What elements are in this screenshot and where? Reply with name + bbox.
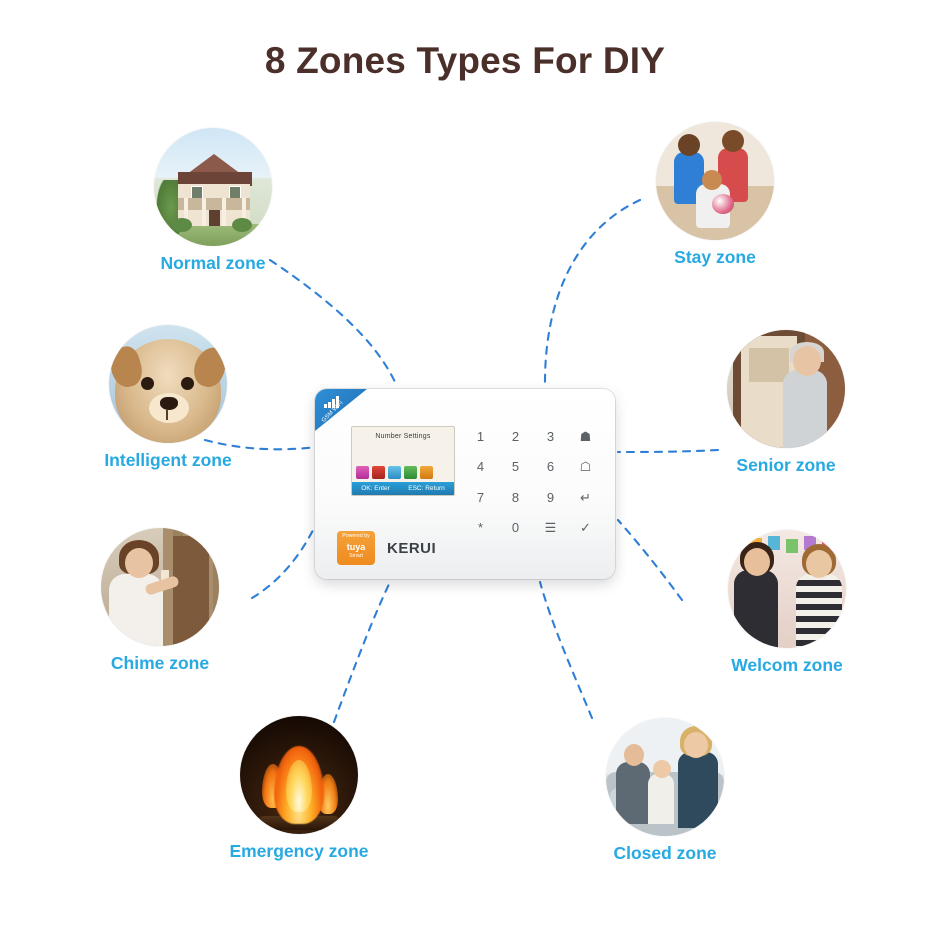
connector-closed bbox=[540, 582, 592, 718]
zone-stay[interactable]: Stay zone bbox=[650, 122, 780, 268]
connector-emergency bbox=[334, 582, 390, 722]
zone-chime-image bbox=[101, 528, 219, 646]
key-star[interactable]: * bbox=[463, 521, 498, 534]
house-photo bbox=[154, 128, 272, 246]
wifi-icon bbox=[388, 466, 401, 479]
zone-senior-image bbox=[727, 330, 845, 448]
confirm-icon[interactable]: ✓ bbox=[568, 521, 603, 534]
zone-normal-image bbox=[154, 128, 272, 246]
menu-icon[interactable]: ☰ bbox=[533, 521, 568, 534]
key-2[interactable]: 2 bbox=[498, 430, 533, 443]
panel-base bbox=[321, 571, 609, 585]
key-4[interactable]: 4 bbox=[463, 460, 498, 473]
key-8[interactable]: 8 bbox=[498, 491, 533, 504]
diagram-canvas: 8 Zones Types For DIY bbox=[0, 0, 930, 930]
zone-welcom[interactable]: Welcom zone bbox=[712, 530, 862, 676]
softkey-ok: OK: Enter bbox=[361, 485, 390, 492]
zone-stay-image bbox=[656, 122, 774, 240]
zone-emergency-label: Emergency zone bbox=[219, 841, 379, 862]
zone-stay-label: Stay zone bbox=[650, 247, 780, 268]
zone-senior[interactable]: Senior zone bbox=[716, 330, 856, 476]
zone-intelligent[interactable]: Intelligent zone bbox=[88, 325, 248, 471]
children-playing-photo bbox=[656, 122, 774, 240]
screen-softkeys: OK: Enter ESC: Return bbox=[352, 482, 454, 495]
screen-status-icons bbox=[356, 466, 433, 479]
alarm-panel[interactable]: GSM WiFi Number Settings OK: Enter ESC: … bbox=[315, 389, 615, 579]
panel-keypad[interactable]: 1 2 3 ☗ 4 5 6 ☖ 7 8 9 ↵ * 0 ☰ ✓ bbox=[463, 421, 603, 543]
zone-welcom-image bbox=[728, 530, 846, 648]
zone-emergency[interactable]: Emergency zone bbox=[219, 716, 379, 862]
tuya-brand-label: tuya bbox=[337, 541, 375, 553]
zone-closed-label: Closed zone bbox=[595, 843, 735, 864]
softkey-esc: ESC: Return bbox=[408, 485, 445, 492]
arm-away-icon[interactable]: ☗ bbox=[568, 430, 603, 443]
zone-closed-image bbox=[606, 718, 724, 836]
connector-normal bbox=[270, 260, 395, 382]
party-guests-photo bbox=[728, 530, 846, 648]
puppy-photo bbox=[109, 325, 227, 443]
zone-intelligent-label: Intelligent zone bbox=[88, 450, 248, 471]
zone-welcom-label: Welcom zone bbox=[712, 655, 862, 676]
zone-emergency-image bbox=[240, 716, 358, 834]
connector-stay bbox=[545, 200, 640, 382]
connector-chime bbox=[252, 520, 318, 598]
tuya-powered-label: Powered by bbox=[342, 533, 369, 539]
family-sofa-photo bbox=[606, 718, 724, 836]
page-title: 8 Zones Types For DIY bbox=[0, 40, 930, 82]
kerui-logo: KERUI bbox=[387, 540, 436, 557]
tuya-smart-label: Smart bbox=[349, 553, 363, 559]
key-1[interactable]: 1 bbox=[463, 430, 498, 443]
key-6[interactable]: 6 bbox=[533, 460, 568, 473]
arm-stay-icon[interactable]: ☖ bbox=[568, 460, 603, 473]
fire-photo bbox=[240, 716, 358, 834]
wifi-signal-icon: GSM WiFi bbox=[315, 389, 367, 431]
zone-intelligent-image bbox=[109, 325, 227, 443]
battery-icon bbox=[372, 466, 385, 479]
key-7[interactable]: 7 bbox=[463, 491, 498, 504]
zone-closed[interactable]: Closed zone bbox=[595, 718, 735, 864]
woman-doorbell-photo bbox=[101, 528, 219, 646]
network-icon bbox=[404, 466, 417, 479]
zone-normal-label: Normal zone bbox=[148, 253, 278, 274]
back-icon[interactable]: ↵ bbox=[568, 491, 603, 504]
key-3[interactable]: 3 bbox=[533, 430, 568, 443]
zone-chime[interactable]: Chime zone bbox=[90, 528, 230, 674]
connector-senior bbox=[618, 450, 718, 452]
key-0[interactable]: 0 bbox=[498, 521, 533, 534]
panel-screen: Number Settings OK: Enter ESC: Return bbox=[351, 426, 455, 496]
zone-normal[interactable]: Normal zone bbox=[148, 128, 278, 274]
sim-icon bbox=[356, 466, 369, 479]
alarm-icon bbox=[420, 466, 433, 479]
senior-woman-photo bbox=[727, 330, 845, 448]
key-9[interactable]: 9 bbox=[533, 491, 568, 504]
tuya-logo: Powered by tuya Smart bbox=[337, 531, 375, 565]
zone-senior-label: Senior zone bbox=[716, 455, 856, 476]
zone-chime-label: Chime zone bbox=[90, 653, 230, 674]
screen-title: Number Settings bbox=[352, 433, 454, 440]
connector-welcom bbox=[618, 520, 682, 600]
key-5[interactable]: 5 bbox=[498, 460, 533, 473]
panel-branding: Powered by tuya Smart KERUI bbox=[337, 531, 436, 565]
